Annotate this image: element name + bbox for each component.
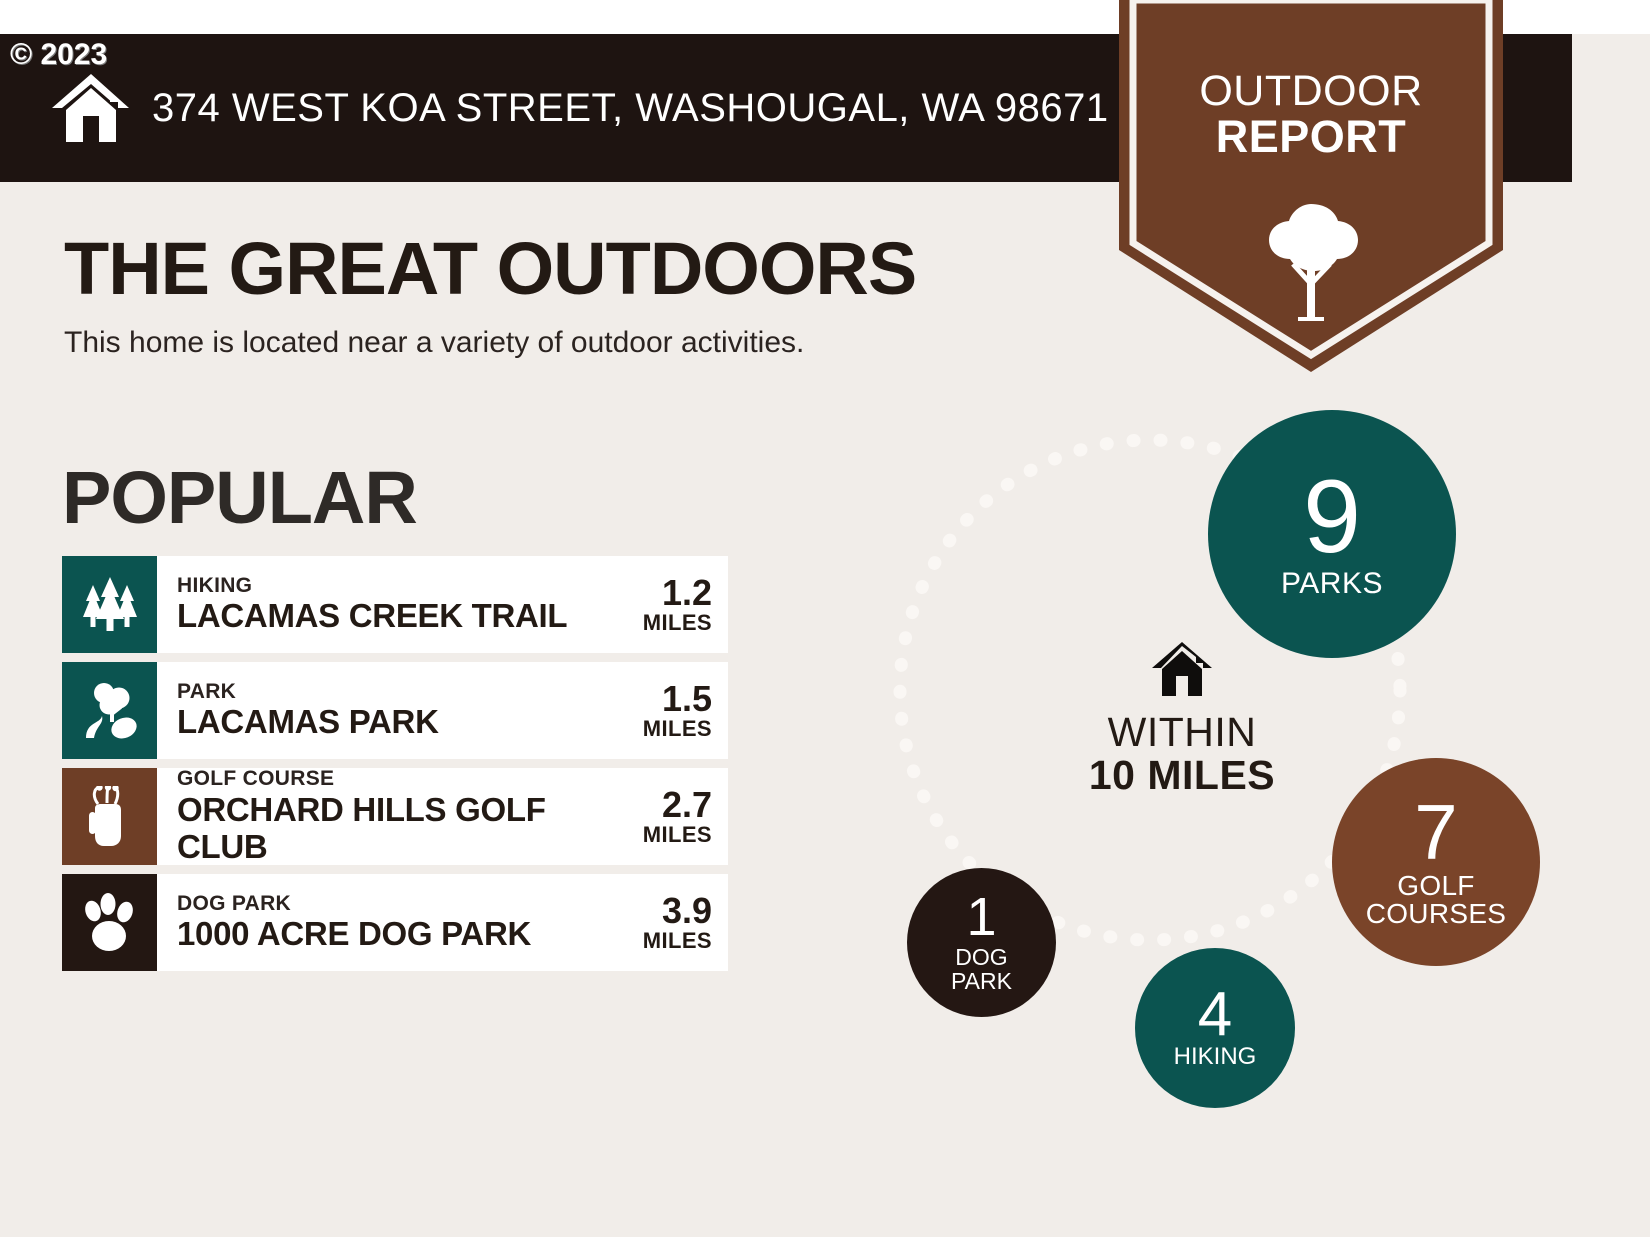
list-item[interactable]: DOG PARK 1000 ACRE DOG PARK 3.9 MILES [62,874,728,971]
list-item-distance: 1.5 MILES [624,662,728,759]
list-item-text: HIKING LACAMAS CREEK TRAIL [157,556,624,653]
bubble-label: HIKING [1174,1045,1257,1069]
list-item[interactable]: GOLF COURSE ORCHARD HILLS GOLF CLUB 2.7 … [62,768,728,865]
trees-icon [62,556,157,653]
page-subtitle: This home is located near a variety of o… [64,326,804,360]
section-title-popular: POPULAR [62,455,417,540]
distance-unit: MILES [643,717,712,741]
bubble-hiking[interactable]: 4 HIKING [1135,948,1295,1108]
popular-list: HIKING LACAMAS CREEK TRAIL 1.2 MILES [62,556,728,980]
bubble-label-line-2: PARK [951,969,1012,993]
distance-unit: MILES [643,929,712,953]
distance-value: 1.2 [662,574,712,612]
list-item-text: GOLF COURSE ORCHARD HILLS GOLF CLUB [157,768,624,865]
distance-value: 3.9 [662,892,712,930]
center-label-line-2: 10 MILES [1002,754,1362,797]
paw-icon [62,874,157,971]
list-item-category: DOG PARK [177,892,624,916]
bubble-count: 7 [1414,795,1457,869]
list-item-name: ORCHARD HILLS GOLF CLUB [177,792,624,866]
bubble-parks[interactable]: 9 PARKS [1208,410,1456,658]
bubble-label-line-1: GOLF [1397,872,1474,901]
page-title: THE GREAT OUTDOORS [64,226,916,311]
bubble-label-line-2: COURSES [1366,900,1507,929]
list-item-distance: 2.7 MILES [624,768,728,865]
list-item-distance: 3.9 MILES [624,874,728,971]
distance-unit: MILES [643,611,712,635]
list-item-text: PARK LACAMAS PARK [157,662,624,759]
park-icon [62,662,157,759]
home-icon [1002,640,1362,703]
copyright-label: © 2023 [10,38,107,72]
list-item-name: LACAMAS PARK [177,704,624,741]
list-item-category: PARK [177,680,624,704]
diagram-center: WITHIN 10 MILES [1002,640,1362,797]
list-item-category: HIKING [177,574,624,598]
list-item-name: 1000 ACRE DOG PARK [177,916,624,953]
list-item[interactable]: PARK LACAMAS PARK 1.5 MILES [62,662,728,759]
distance-value: 2.7 [662,786,712,824]
bubble-count: 4 [1198,986,1232,1045]
bubble-count: 9 [1303,468,1361,567]
distance-value: 1.5 [662,680,712,718]
list-item[interactable]: HIKING LACAMAS CREEK TRAIL 1.2 MILES [62,556,728,653]
bubble-count: 1 [966,892,996,943]
list-item-name: LACAMAS CREEK TRAIL [177,598,624,635]
outdoor-report-badge: OUTDOOR REPORT [1119,0,1503,372]
bubble-dog-park[interactable]: 1 DOG PARK [907,868,1056,1017]
golf-bag-icon [62,768,157,865]
bubble-label-line-1: DOG [955,945,1007,969]
distance-unit: MILES [643,823,712,847]
property-address: 374 WEST KOA STREET, WASHOUGAL, WA 98671 [152,86,1109,131]
list-item-category: GOLF COURSE [177,767,624,791]
bubble-label: PARKS [1281,569,1383,600]
outdoor-report-page: © 2023 374 WEST KOA STREET, WASHOUGAL, W… [0,0,1650,1237]
list-item-distance: 1.2 MILES [624,556,728,653]
bubble-golf-courses[interactable]: 7 GOLF COURSES [1332,758,1540,966]
center-label-line-1: WITHIN [1002,711,1362,754]
list-item-text: DOG PARK 1000 ACRE DOG PARK [157,874,624,971]
within-10-miles-diagram: 9 PARKS 7 GOLF COURSES 4 HIKING 1 DOG PA… [820,390,1560,1150]
home-icon [52,72,130,144]
